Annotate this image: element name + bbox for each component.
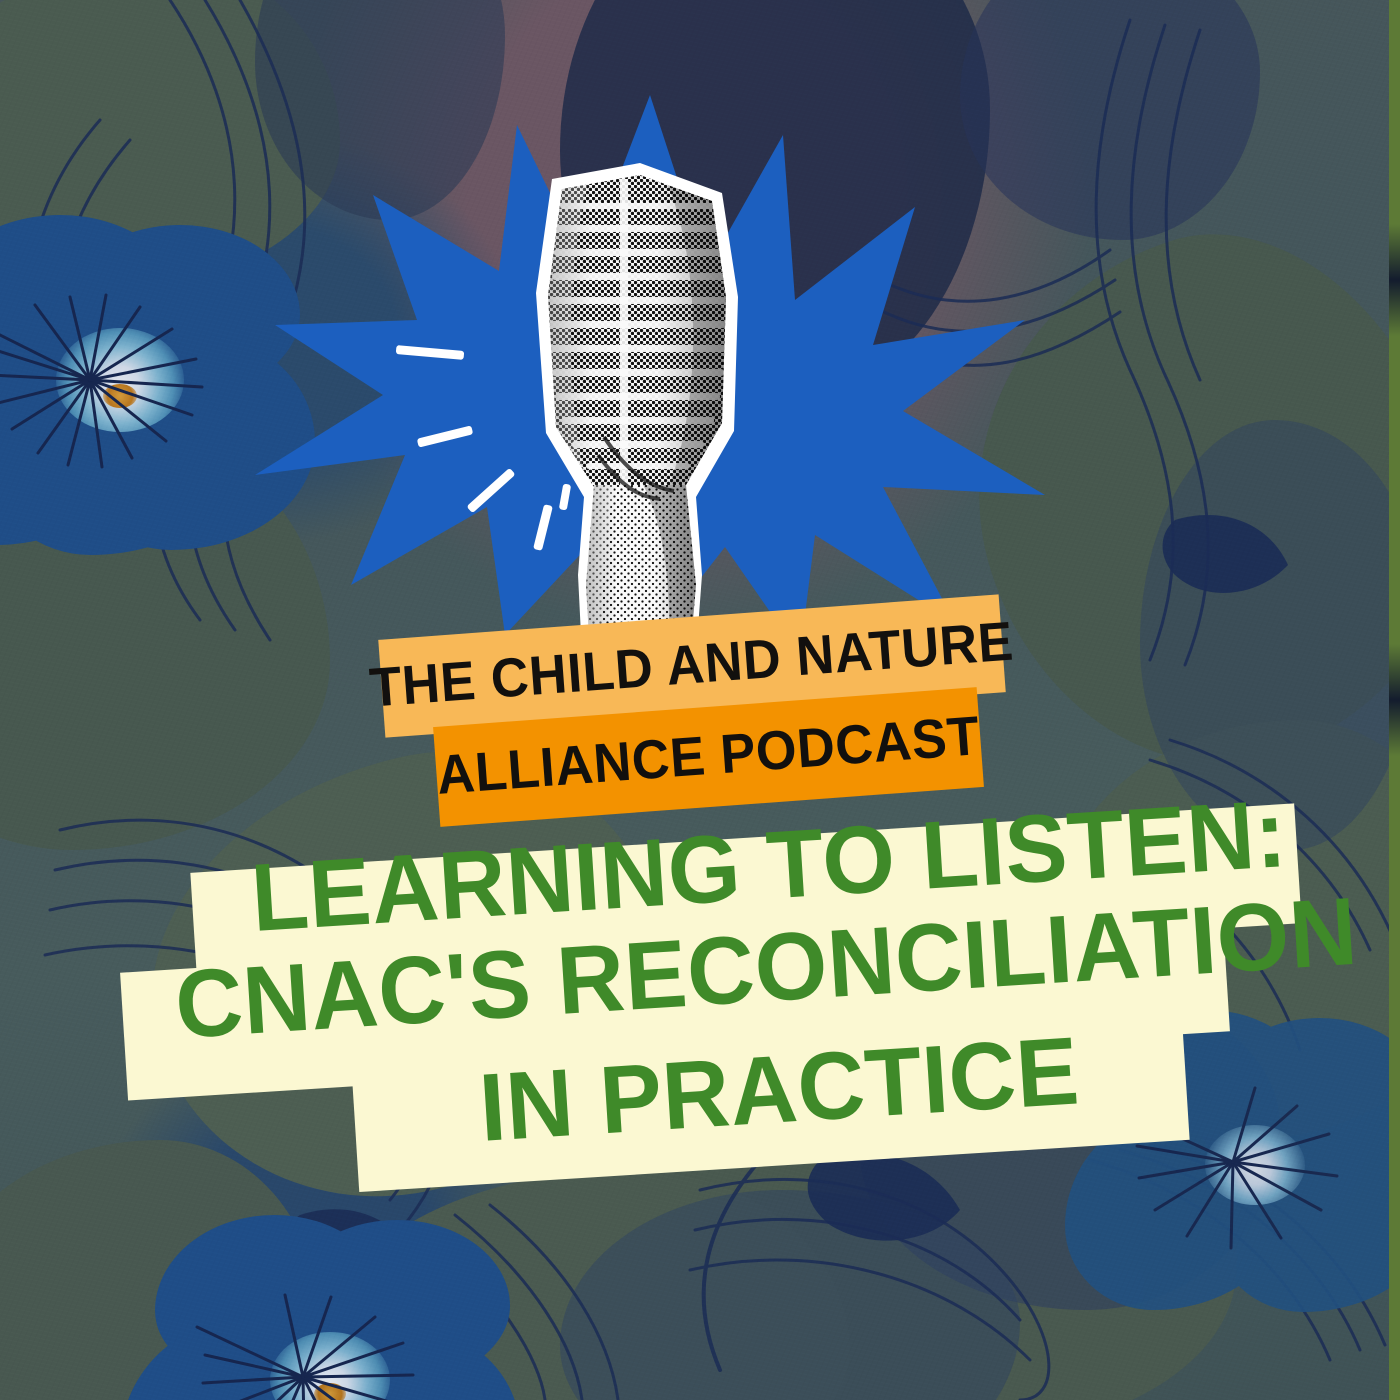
edge-strip <box>1389 0 1400 1400</box>
podcast-cover-art: THE CHILD AND NATURE ALLIANCE PODCAST LE… <box>0 0 1400 1400</box>
microphone-icon <box>490 155 790 655</box>
